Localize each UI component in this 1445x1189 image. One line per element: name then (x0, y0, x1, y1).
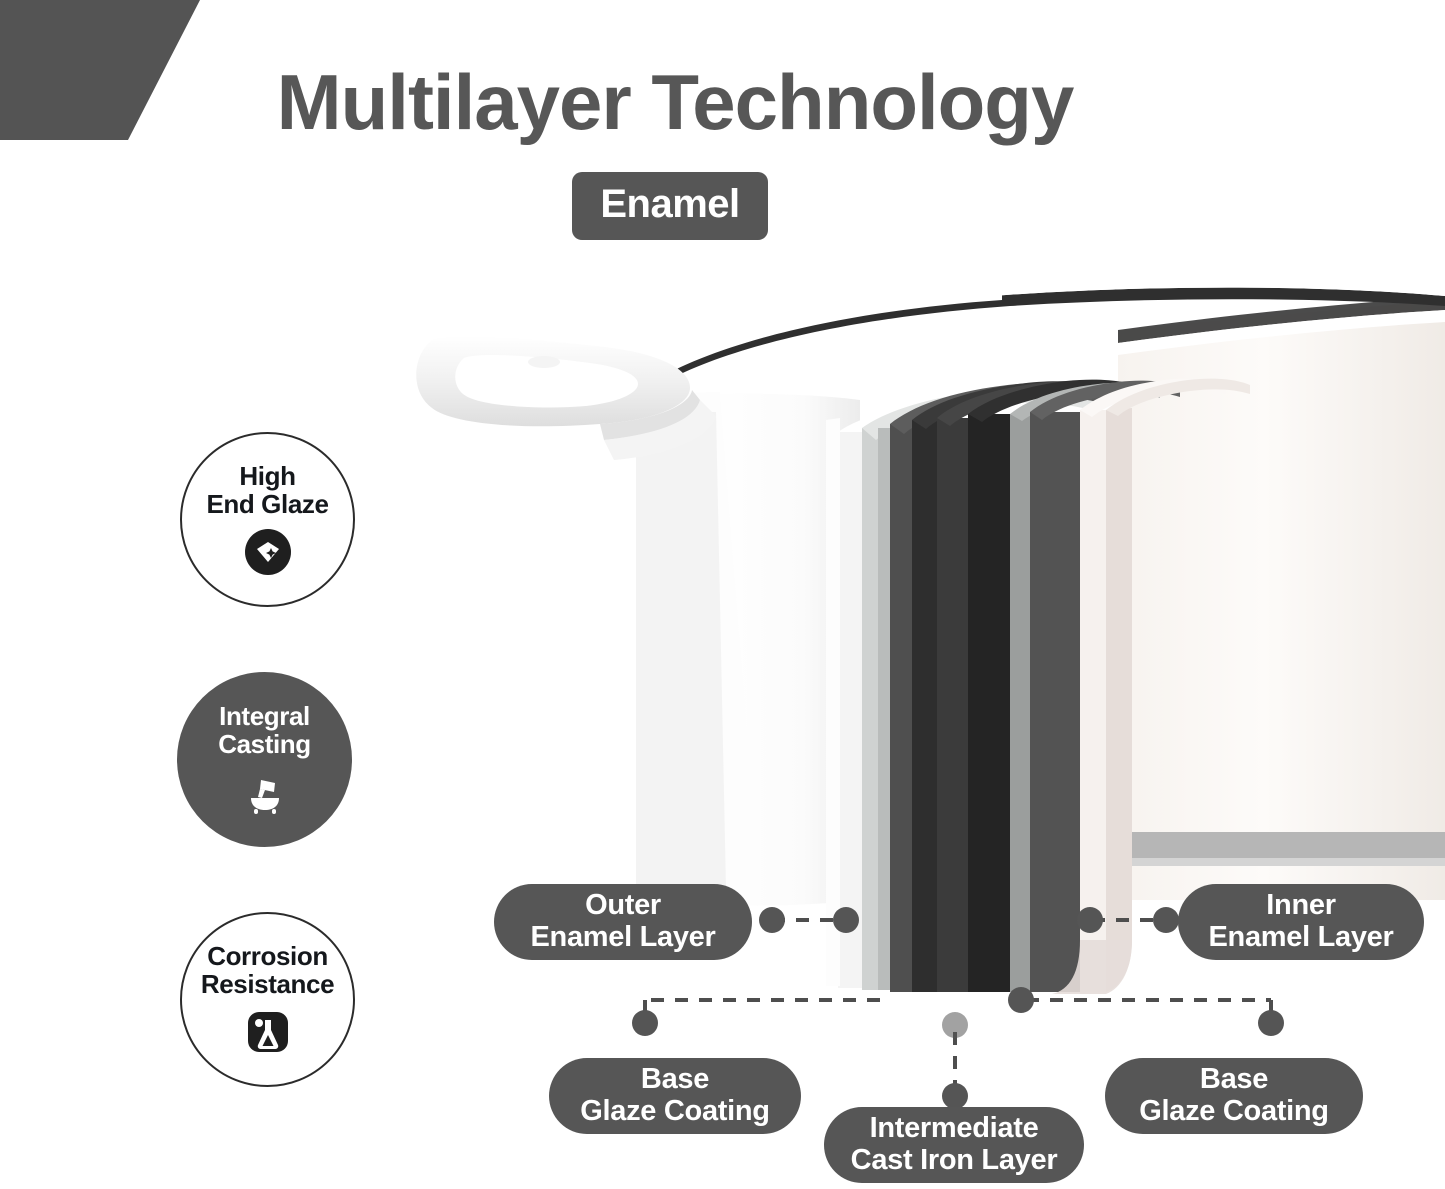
infographic-canvas: Multilayer Technology Enamel (0, 0, 1445, 1189)
connector-dot-outer-layer (833, 907, 859, 933)
connector-dot-base-left-label (632, 1010, 658, 1036)
connector-dot-inner-label (1153, 907, 1179, 933)
casting-ladle-icon (241, 768, 289, 816)
connector-dot-intermediate-layer (942, 1012, 968, 1038)
flask-icon (244, 1008, 292, 1056)
feature-badge-high-end-glaze[interactable]: High End Glaze (180, 432, 355, 607)
connector-dot-outer-label (759, 907, 785, 933)
callout-inner-enamel-layer[interactable]: Inner Enamel Layer (1178, 884, 1424, 960)
connector-dot-base-right-label (1258, 1010, 1284, 1036)
feature-badge-integral-casting[interactable]: Integral Casting (177, 672, 352, 847)
callout-intermediate-layer[interactable]: Intermediate Cast Iron Layer (824, 1107, 1084, 1183)
callout-outer-enamel-layer[interactable]: Outer Enamel Layer (494, 884, 752, 960)
feature-badge-label: High End Glaze (206, 463, 328, 518)
callout-base-glaze-right[interactable]: Base Glaze Coating (1105, 1058, 1363, 1134)
feature-badge-corrosion-resistance[interactable]: Corrosion Resistance (180, 912, 355, 1087)
connector-dot-intermediate-label (942, 1083, 968, 1109)
diamond-gem-icon (244, 528, 292, 576)
connector-dot-base-right-layer (1008, 987, 1034, 1013)
feature-badge-label: Integral Casting (218, 703, 311, 758)
connector-dot-inner-layer (1077, 907, 1103, 933)
callout-base-glaze-left[interactable]: Base Glaze Coating (549, 1058, 801, 1134)
feature-badge-label: Corrosion Resistance (201, 943, 334, 998)
